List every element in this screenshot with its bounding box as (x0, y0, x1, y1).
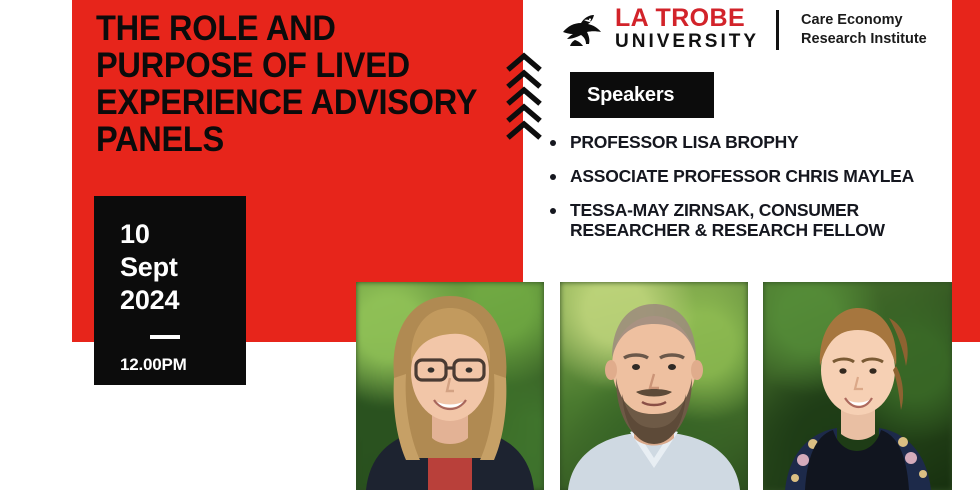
chevron-up-stack (506, 52, 542, 140)
brand-lockup: LA TROBE UNIVERSITY Care Economy Researc… (560, 6, 927, 53)
brand-wordmark: LA TROBE UNIVERSITY (615, 6, 759, 53)
date-divider (150, 335, 180, 339)
speaker-photo-tessa-may-zirnsak (763, 282, 952, 490)
magpie-icon (560, 11, 606, 49)
portrait-figure (356, 282, 544, 490)
speakers-list: PROFESSOR LISA BROPHY ASSOCIATE PROFESSO… (545, 133, 945, 255)
list-item: ASSOCIATE PROFESSOR CHRIS MAYLEA (545, 167, 945, 187)
page-title: THE ROLE AND PURPOSE OF LIVED EXPERIENCE… (96, 10, 487, 158)
event-day: 10 (120, 218, 246, 251)
list-item: TESSA-MAY ZIRNSAK, CONSUMER RESEARCHER &… (545, 201, 945, 241)
event-time: 12.00PM (120, 355, 246, 375)
event-poster: THE ROLE AND PURPOSE OF LIVED EXPERIENCE… (0, 0, 980, 490)
brand-name-secondary: UNIVERSITY (615, 31, 759, 52)
institute-name: Care Economy Research Institute (801, 11, 927, 48)
event-month: Sept (120, 251, 246, 284)
brand-name-primary: LA TROBE (615, 4, 745, 32)
event-year: 2024 (120, 284, 246, 317)
speakers-heading-tag: Speakers (570, 72, 714, 118)
list-item: PROFESSOR LISA BROPHY (545, 133, 945, 153)
portrait-figure (763, 282, 952, 490)
speakers-heading-label: Speakers (587, 84, 674, 107)
speaker-photo-chris-maylea (560, 282, 748, 490)
portrait-figure (560, 282, 748, 490)
speaker-photo-lisa-brophy (356, 282, 544, 490)
event-date-box: 10 Sept 2024 12.00PM (94, 196, 246, 385)
brand-divider (776, 10, 779, 50)
red-accent-strip-right (952, 0, 980, 342)
